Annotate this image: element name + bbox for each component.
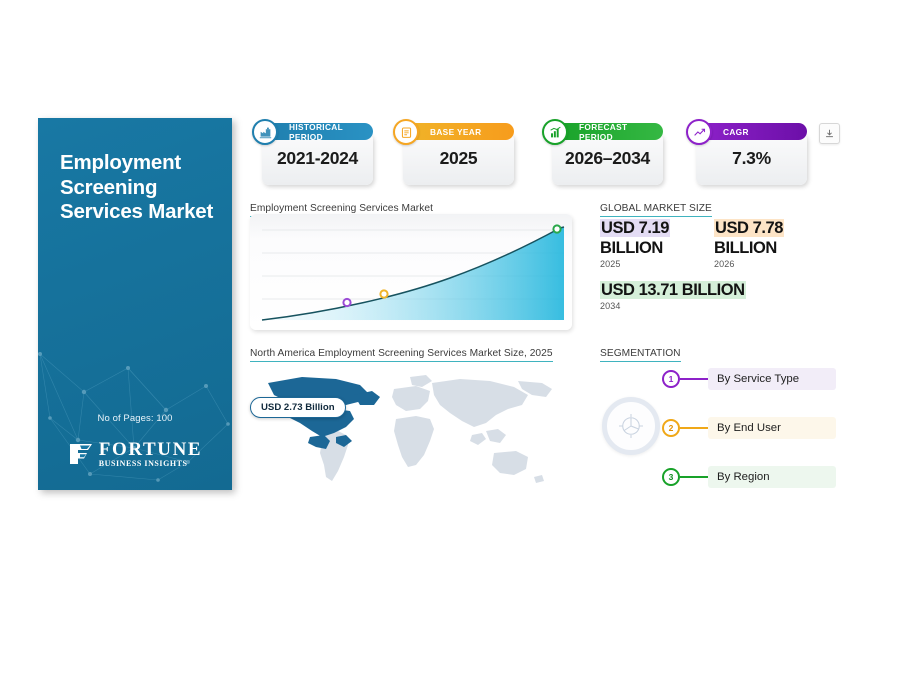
badge-pill: FORECAST PERIOD: [553, 123, 663, 140]
segmentation-label: By End User: [708, 417, 836, 439]
market-figure-amount: USD 13.71 BILLION: [600, 280, 838, 300]
badge-pill: HISTORICAL PERIOD: [263, 123, 373, 140]
global-market-heading: GLOBAL MARKET SIZE: [600, 203, 712, 217]
segmentation-pie-icon: [616, 411, 646, 441]
badge-label: CAGR: [723, 127, 749, 137]
market-figure-year: 2026: [714, 259, 834, 269]
infographic-card: Employment Screening Services Market No …: [38, 118, 838, 490]
market-figure-year: 2034: [600, 301, 838, 311]
logo-text-primary: FORTUNE: [99, 440, 202, 459]
segmentation-heading-wrap: SEGMENTATION: [600, 343, 681, 362]
logo-text-secondary: BUSINESS INSIGHTS: [99, 460, 202, 468]
badge-base-year[interactable]: BASE YEAR 2025: [389, 123, 514, 185]
segmentation-connector: [680, 476, 708, 478]
market-figure-year: 2025: [600, 259, 712, 269]
chart-svg: [250, 214, 572, 330]
segmentation-number: 1: [662, 370, 680, 388]
factory-icon: [259, 126, 272, 139]
map-heading-wrap: North America Employment Screening Servi…: [250, 343, 553, 362]
badge-forecast-period[interactable]: FORECAST PERIOD 2026–2034: [538, 123, 663, 185]
market-figure-amount-head: USD 7.78: [714, 219, 784, 237]
segmentation-list: 1 By Service Type 2 By End User 3 By Reg…: [600, 362, 838, 490]
global-market-heading-wrap: GLOBAL MARKET SIZE: [600, 198, 712, 217]
download-button[interactable]: [819, 123, 840, 144]
segmentation-number: 2: [662, 419, 680, 437]
market-growth-chart: [250, 214, 572, 330]
calendar-document-icon: [400, 126, 413, 139]
segmentation-label: By Region: [708, 466, 836, 488]
badge-label: HISTORICAL PERIOD: [289, 122, 373, 142]
market-figure-amount-head: USD 7.19: [600, 219, 670, 237]
badge-value: 7.3%: [696, 148, 807, 169]
segmentation-item-by-service-type[interactable]: 1 By Service Type: [662, 368, 836, 390]
badge-historical-period[interactable]: HISTORICAL PERIOD 2021-2024: [248, 123, 373, 185]
segmentation-item-by-end-user[interactable]: 2 By End User: [662, 417, 836, 439]
sidebar: Employment Screening Services Market No …: [38, 118, 232, 490]
fortune-logo-icon: [68, 442, 94, 466]
badge-label: BASE YEAR: [430, 127, 481, 137]
badge-icon-ring: [686, 119, 712, 145]
map-heading: North America Employment Screening Servi…: [250, 348, 553, 362]
map-value-callout: USD 2.73 Billion: [250, 397, 346, 418]
world-map-svg: [250, 361, 572, 489]
badge-value: 2026–2034: [552, 148, 663, 169]
market-figure: USD 7.78BILLION 2026: [714, 218, 834, 269]
segmentation-number-text: 1: [669, 374, 674, 384]
segmentation-item-by-region[interactable]: 3 By Region: [662, 466, 836, 488]
badge-icon-ring: [393, 119, 419, 145]
badge-cagr[interactable]: CAGR 7.3%: [682, 123, 807, 185]
badge-pill: CAGR: [697, 123, 807, 140]
content-panel: HISTORICAL PERIOD 2021-2024 BASE YEAR: [248, 118, 838, 490]
segmentation-number-text: 2: [669, 423, 674, 433]
trend-up-icon: [693, 126, 706, 139]
kpi-badge-row: HISTORICAL PERIOD 2021-2024 BASE YEAR: [248, 123, 816, 185]
chart-area-fill: [262, 228, 564, 320]
market-figure-amount-tail: BILLION: [600, 239, 663, 257]
brand-logo: FORTUNE BUSINESS INSIGHTS: [38, 440, 232, 468]
segmentation-number: 3: [662, 468, 680, 486]
segmentation-number-text: 3: [669, 472, 674, 482]
market-figure-amount-head: USD 13.71 BILLION: [600, 281, 746, 299]
badge-pill: BASE YEAR: [404, 123, 514, 140]
market-figure-amount-tail: BILLION: [714, 239, 777, 257]
segmentation-label: By Service Type: [708, 368, 836, 390]
market-figure: USD 13.71 BILLION 2034: [600, 280, 838, 311]
segmentation-center-icon-wrap: [602, 397, 660, 455]
world-map: USD 2.73 Billion: [250, 361, 572, 489]
badge-label: FORECAST PERIOD: [579, 122, 663, 142]
segmentation-connector: [680, 427, 708, 429]
badge-value: 2021-2024: [262, 148, 373, 169]
segmentation-connector: [680, 378, 708, 380]
growth-chart-icon: [549, 126, 562, 139]
report-title: Employment Screening Services Market: [60, 151, 220, 225]
badge-icon-ring: [542, 119, 568, 145]
market-figure-amount: USD 7.78BILLION: [714, 218, 834, 258]
page-count-label: No of Pages: 100: [38, 413, 232, 424]
market-figure: USD 7.19BILLION 2025: [600, 218, 712, 269]
badge-value: 2025: [403, 148, 514, 169]
segmentation-heading: SEGMENTATION: [600, 348, 681, 362]
market-figure-amount: USD 7.19BILLION: [600, 218, 712, 258]
badge-icon-ring: [252, 119, 278, 145]
download-icon: [824, 128, 835, 139]
